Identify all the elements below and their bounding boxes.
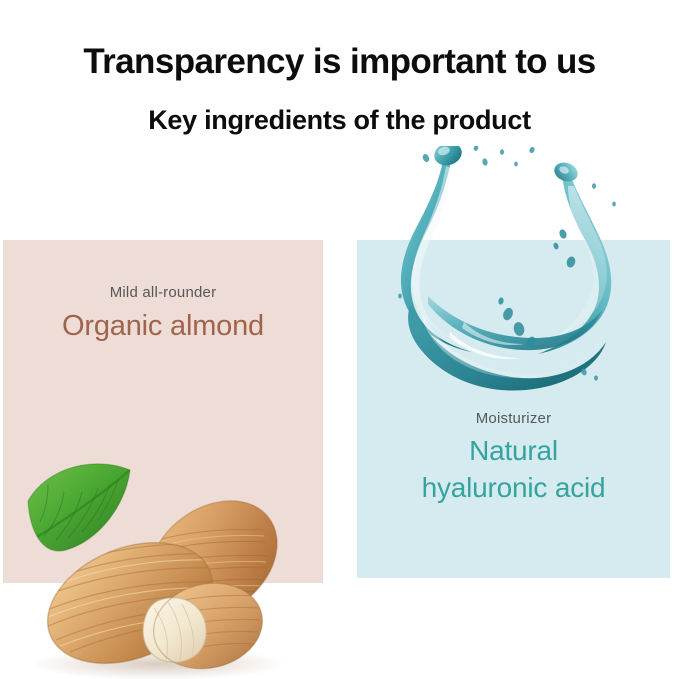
ingredient-card-organic-almond-text: Mild all-rounder Organic almond	[3, 283, 323, 345]
page-subtitle: Key ingredients of the product	[0, 104, 679, 136]
almond-half	[143, 573, 271, 679]
ingredient-card-hyaluronic-acid-text: Moisturizer Natural hyaluronic acid	[357, 409, 670, 506]
ingredient-name-line-1: Natural	[357, 432, 670, 469]
ingredient-eyebrow-hyaluronic-acid: Moisturizer	[357, 409, 670, 429]
page-title: Transparency is important to us	[0, 42, 679, 82]
ingredient-name-hyaluronic-acid: Natural hyaluronic acid	[357, 432, 670, 506]
ingredient-eyebrow-almond: Mild all-rounder	[3, 283, 323, 303]
ingredients-infographic: Transparency is important to us Key ingr…	[0, 0, 679, 679]
ingredient-name-line-2: hyaluronic acid	[357, 469, 670, 506]
ingredient-name-almond: Organic almond	[3, 307, 323, 345]
